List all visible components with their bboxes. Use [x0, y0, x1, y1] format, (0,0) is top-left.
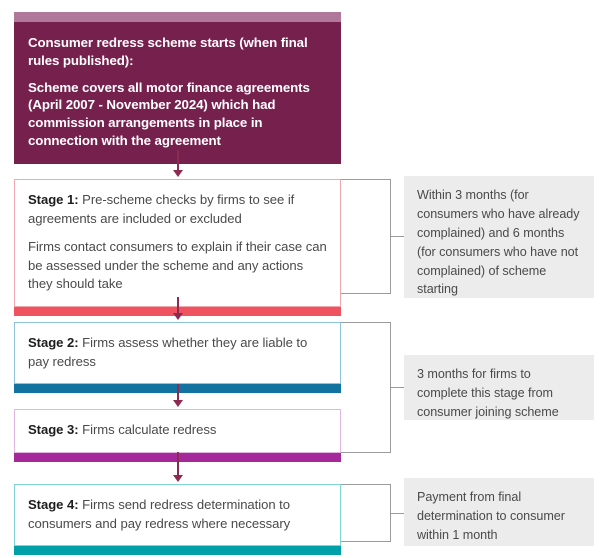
stage-1-paragraph-1: Stage 1: Pre-scheme checks by firms to s… — [28, 191, 327, 228]
note-timing-stage-4-text: Payment from final determination to cons… — [417, 488, 582, 545]
stage-2-paragraph-1: Stage 2: Firms assess whether they are l… — [28, 334, 327, 371]
note-timing-stage-1: Within 3 months (for consumers who have … — [404, 176, 594, 298]
bracket-stem-2 — [391, 387, 404, 388]
stage-1-text: Stage 1: Pre-scheme checks by firms to s… — [14, 179, 341, 307]
stage-4-node: Stage 4: Firms send redress determinatio… — [14, 484, 341, 555]
stage-3-label: Stage 3: — [28, 422, 79, 437]
stage-1-label: Stage 1: — [28, 192, 79, 207]
connector-stage3-to-stage4 — [177, 452, 179, 477]
bracket-stage-4 — [341, 484, 391, 542]
stage-4-paragraph-1: Stage 4: Firms send redress determinatio… — [28, 496, 327, 533]
stage-4-accent-bar — [14, 546, 341, 555]
arrowhead-stage1-to-stage2 — [173, 313, 183, 320]
stage-3-paragraph-1: Stage 3: Firms calculate redress — [28, 421, 327, 440]
bracket-stem-1 — [391, 236, 404, 237]
arrowhead-stage3-to-stage4 — [173, 475, 183, 482]
stage-3-text: Stage 3: Firms calculate redress — [14, 409, 341, 453]
stage-1-node: Stage 1: Pre-scheme checks by firms to s… — [14, 179, 341, 316]
bracket-stem-3 — [391, 513, 404, 514]
arrowhead-header-to-stage1 — [173, 170, 183, 177]
stage-4-text: Stage 4: Firms send redress determinatio… — [14, 484, 341, 546]
note-timing-stage-1-text: Within 3 months (for consumers who have … — [417, 186, 582, 299]
arrowhead-stage2-to-stage3 — [173, 400, 183, 407]
stage-2-node: Stage 2: Firms assess whether they are l… — [14, 322, 341, 393]
scheme-start-line-1: Consumer redress scheme starts (when fin… — [28, 34, 327, 70]
note-timing-stage-2-3-text: 3 months for firms to complete this stag… — [417, 365, 582, 422]
stage-4-label: Stage 4: — [28, 497, 79, 512]
scheme-start-line-2: Scheme covers all motor finance agreemen… — [28, 79, 327, 150]
stage-2-label: Stage 2: — [28, 335, 79, 350]
note-timing-stage-2-3: 3 months for firms to complete this stag… — [404, 355, 594, 420]
stage-3-paragraph-1-text: Firms calculate redress — [82, 422, 216, 437]
scheme-start-text: Consumer redress scheme starts (when fin… — [14, 22, 341, 164]
bracket-stage-2-3 — [341, 322, 391, 453]
bracket-stage-1 — [341, 179, 391, 294]
stage-2-text: Stage 2: Firms assess whether they are l… — [14, 322, 341, 384]
stage-1-paragraph-2: Firms contact consumers to explain if th… — [28, 238, 327, 294]
note-timing-stage-4: Payment from final determination to cons… — [404, 478, 594, 546]
connector-header-to-stage1 — [177, 150, 179, 172]
scheme-start-node: Consumer redress scheme starts (when fin… — [14, 12, 341, 164]
flowchart-canvas: Consumer redress scheme starts (when fin… — [0, 0, 602, 558]
header-accent-bar — [14, 12, 341, 22]
